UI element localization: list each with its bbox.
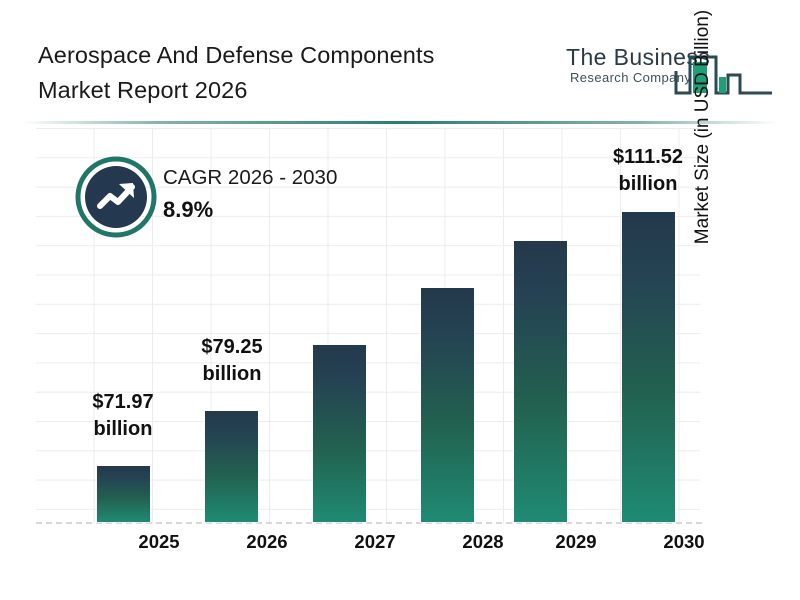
bar-2027 <box>313 345 366 522</box>
cagr-text-block: CAGR 2026 - 2030 8.9% <box>163 164 403 226</box>
cagr-period-label: CAGR 2026 - 2030 <box>163 164 403 192</box>
infographic-canvas: Aerospace And Defense Components Market … <box>0 0 800 600</box>
x-tick-2025: 2025 <box>104 531 214 553</box>
bar-2025 <box>97 466 150 522</box>
value-label-2026: $79.25 billion <box>162 334 302 388</box>
bar-series <box>0 0 800 600</box>
bar-2029 <box>514 241 567 522</box>
x-tick-2026: 2026 <box>212 531 322 553</box>
bar-2030 <box>622 212 675 522</box>
bar-2028 <box>421 288 474 522</box>
bar-2026 <box>205 411 258 522</box>
y-axis-title: Market Size (in USD Billion) <box>692 0 714 272</box>
x-axis-labels: 2025 2026 2027 2028 2029 2030 <box>36 531 702 567</box>
x-tick-2030: 2030 <box>629 531 739 553</box>
x-tick-2027: 2027 <box>320 531 430 553</box>
value-label-2025: $71.97 billion <box>53 389 193 443</box>
x-tick-2029: 2029 <box>521 531 631 553</box>
cagr-value-label: 8.9% <box>163 194 403 226</box>
trending-up-icon <box>75 156 157 238</box>
cagr-badge: CAGR 2026 - 2030 8.9% <box>75 156 405 248</box>
